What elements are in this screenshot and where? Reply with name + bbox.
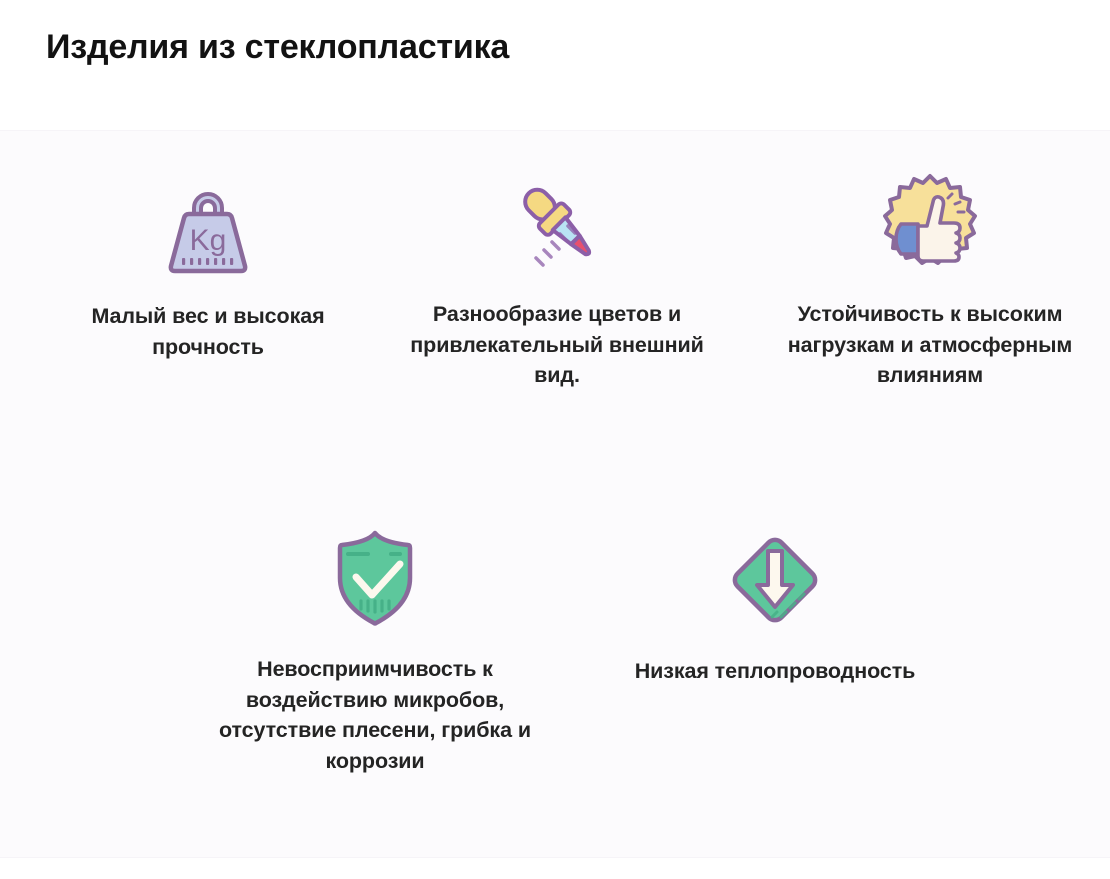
feature-caption: Разнообразие цветов и привлекательный вн…: [397, 299, 717, 391]
feature-card-color-variety: Разнообразие цветов и привлекательный вн…: [392, 163, 722, 391]
thumbs-up-badge-icon: [870, 163, 990, 283]
band-top-divider: [0, 130, 1110, 131]
shield-check-icon: [315, 518, 435, 638]
arrow-down-diamond-icon: [715, 520, 835, 640]
thumbs-up-badge-icon-svg: [875, 168, 985, 278]
feature-caption: Низкая теплопроводность: [625, 656, 925, 687]
dropper-pipette-icon: [497, 163, 617, 283]
page-title: Изделия из стеклопластика: [46, 28, 509, 67]
page-root: Изделия из стеклопластика: [0, 0, 1110, 879]
feature-caption: Малый вес и высокая прочность: [43, 301, 373, 362]
arrow-down-diamond-icon-svg: [720, 525, 830, 635]
feature-caption: Устойчивость к высоким нагрузкам и атмос…: [770, 299, 1090, 391]
dropper-pipette-icon-svg: [502, 168, 612, 278]
weight-kg-icon-svg: Kg: [153, 170, 263, 280]
band-bottom-divider: [0, 857, 1110, 858]
feature-card-load-weather-resistance: Устойчивость к высоким нагрузкам и атмос…: [760, 163, 1100, 391]
feature-card-microbe-resistance: Невосприимчивость к воздействию микробов…: [190, 518, 560, 776]
title-bar: Изделия из стеклопластика: [0, 0, 1110, 130]
weight-kg-icon: Kg: [148, 165, 268, 285]
weight-icon-kg-text: Kg: [190, 224, 227, 257]
feature-card-low-weight-high-strength: Kg Малый вес и высокая прочность: [28, 165, 388, 362]
feature-card-low-thermal-conductivity: Низкая теплопроводность: [620, 520, 930, 687]
shield-check-icon-svg: [320, 523, 430, 633]
feature-caption: Невосприимчивость к воздействию микробов…: [195, 654, 555, 776]
